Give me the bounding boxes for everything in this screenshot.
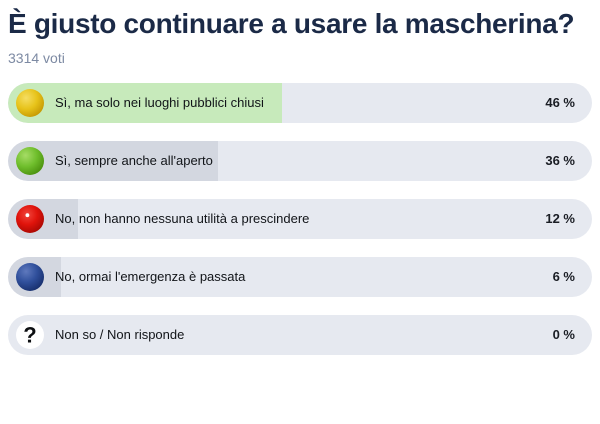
poll-option-label: No, ormai l'emergenza è passata bbox=[55, 257, 245, 297]
poll-option-percent: 0 % bbox=[553, 315, 575, 355]
vote-count: 3314 voti bbox=[0, 41, 600, 66]
page-title: È giusto continuare a usare la mascherin… bbox=[0, 0, 600, 41]
svg-text:?: ? bbox=[23, 323, 36, 348]
poll-option-row[interactable]: No, ormai l'emergenza è passata 6 % bbox=[8, 257, 592, 297]
poll-option-row[interactable]: ? Non so / Non risponde 0 % bbox=[8, 315, 592, 355]
poll-option-row[interactable]: No, non hanno nessuna utilità a prescind… bbox=[8, 199, 592, 239]
poll-option-label: Sì, ma solo nei luoghi pubblici chiusi bbox=[55, 83, 264, 123]
poll-widget: È giusto continuare a usare la mascherin… bbox=[0, 0, 600, 424]
poll-option-percent: 12 % bbox=[545, 199, 575, 239]
poll-option-label: Non so / Non risponde bbox=[55, 315, 184, 355]
question-mark-marker: ? bbox=[15, 320, 45, 350]
poll-option-row[interactable]: Sì, ma solo nei luoghi pubblici chiusi 4… bbox=[8, 83, 592, 123]
poll-options-list: Sì, ma solo nei luoghi pubblici chiusi 4… bbox=[0, 83, 600, 355]
yellow-circle-marker bbox=[15, 88, 45, 118]
poll-option-percent: 6 % bbox=[553, 257, 575, 297]
poll-option-percent: 36 % bbox=[545, 141, 575, 181]
blue-circle-marker bbox=[15, 262, 45, 292]
poll-option-label: Sì, sempre anche all'aperto bbox=[55, 141, 213, 181]
poll-option-label: No, non hanno nessuna utilità a prescind… bbox=[55, 199, 309, 239]
red-circle-marker bbox=[15, 204, 45, 234]
poll-option-percent: 46 % bbox=[545, 83, 575, 123]
poll-option-row[interactable]: Sì, sempre anche all'aperto 36 % bbox=[8, 141, 592, 181]
green-circle-marker bbox=[15, 146, 45, 176]
